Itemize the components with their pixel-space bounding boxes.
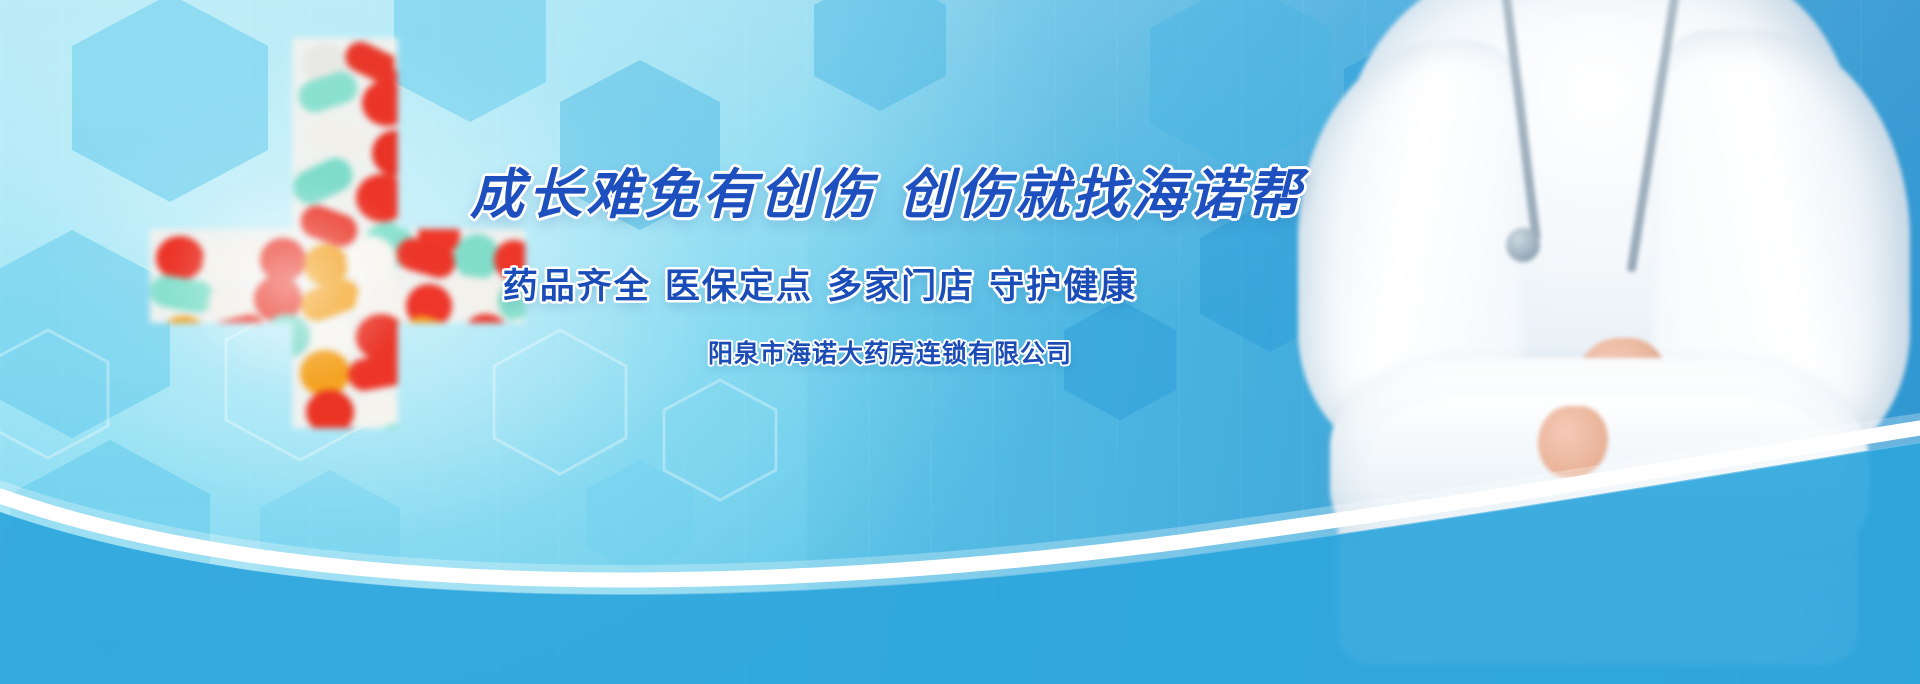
banner-company-name: 阳泉市海诺大药房连锁有限公司	[540, 334, 1240, 370]
banner-headline: 成长难免有创伤 创伤就找海诺帮	[470, 150, 1170, 229]
banner-copy: 成长难免有创伤 创伤就找海诺帮 药品齐全 医保定点 多家门店 守护健康 阳泉市海…	[0, 0, 1920, 684]
banner-subheadline: 药品齐全 医保定点 多家门店 守护健康	[470, 258, 1170, 309]
pharmacy-hero-banner: 成长难免有创伤 创伤就找海诺帮 药品齐全 医保定点 多家门店 守护健康 阳泉市海…	[0, 0, 1920, 684]
